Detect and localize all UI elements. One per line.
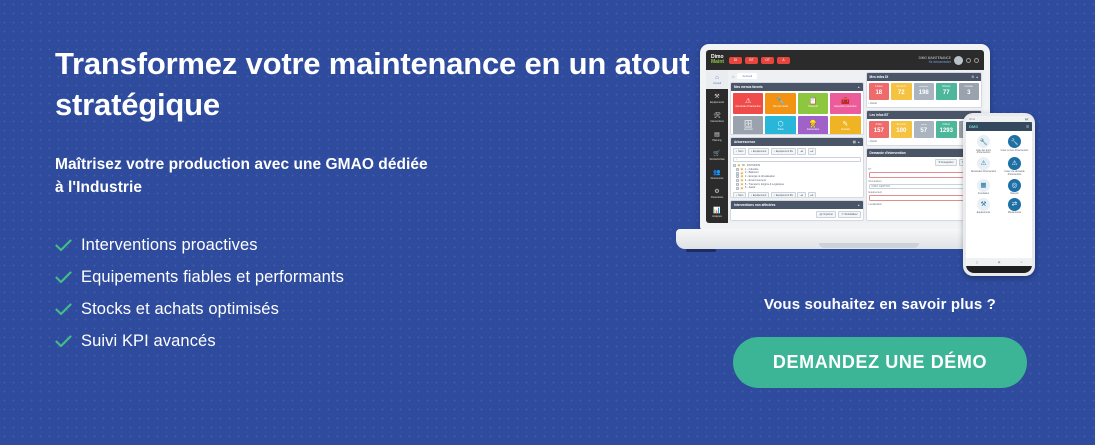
mini-btn-label: Nom: [738, 194, 743, 197]
phone-mockup: 09:41 ▮▮▯ DMS ☰ 🔧 Liste des bons d'inter…: [963, 113, 1035, 276]
cta-question: Vous souhaitez en savoir plus ?: [690, 296, 1070, 313]
panel-title: Demande d'intervention: [870, 151, 906, 155]
app-logo: Dimo Maint: [711, 55, 724, 66]
phone-tile-label: Créer une demande d'intervention: [1000, 171, 1029, 176]
badge-a[interactable]: A: [777, 57, 790, 64]
equipment-icon: ⚒: [714, 94, 719, 100]
sidebar-item-label: Accueil: [713, 82, 721, 85]
list-item-label: Interventions proactives: [81, 236, 258, 255]
list-item: Interventions proactives: [55, 230, 695, 262]
kpi-label: En cours: [897, 86, 906, 89]
app-logo-line-2: Maint: [711, 60, 724, 65]
check-icon: [55, 303, 81, 316]
badge-bt-label: BT: [749, 58, 753, 62]
tree-button-prev[interactable]: ◂1: [797, 148, 806, 155]
mini-btn-label: Imprimer: [823, 213, 833, 216]
clipboard-icon: 📋: [809, 98, 818, 105]
panel-title: Mes infos DI: [870, 75, 889, 79]
tile-intervention[interactable]: 👷 Intervention: [798, 116, 828, 135]
app-main: ⌂ Accueil Mes menus favoris ▴: [728, 70, 984, 223]
collapse-icon[interactable]: ▴: [858, 203, 860, 207]
pen-icon: ✎: [842, 121, 848, 128]
phone-tile-label: Equipements: [977, 212, 990, 215]
demandeur-value: DIMO GESTION: [872, 185, 890, 188]
check-icon: [55, 335, 81, 348]
kpi-label: Soldé: [921, 124, 927, 127]
phone-tile-label: Relevés: [1010, 193, 1018, 196]
sidebar-item-label: Ressources: [711, 177, 724, 180]
mini-btn-label: Equipement fils: [776, 150, 793, 153]
badge-bt[interactable]: BT: [745, 57, 758, 64]
wrench-icon: 🔧: [1008, 135, 1021, 148]
sidebar-item-stocks-achats[interactable]: 🛒 Stocks/Achats: [706, 147, 728, 166]
kpi-detail-link[interactable]: ▪ Détail: [869, 102, 979, 105]
page-title: Transformez votre maintenance en un atou…: [55, 44, 695, 126]
printer-icon: ▤: [819, 213, 822, 216]
avatar[interactable]: [954, 56, 963, 65]
help-icon[interactable]: [966, 58, 971, 63]
panel-body: ▤Imprimer ↻Réinitialiser: [731, 209, 863, 220]
list-item-label: Stocks et achats optimisés: [81, 300, 279, 319]
left-column: ⌂ Accueil Mes menus favoris ▴: [730, 72, 864, 221]
phone-chin: [966, 266, 1032, 273]
list-item-label: Suivi KPI avancés: [81, 332, 216, 351]
kpi-label: A traiter: [875, 86, 883, 89]
panel-title: Arborescence: [734, 140, 755, 144]
sidebar-item-label: Stocks/Achats: [709, 158, 724, 161]
app-header-right: DIMO MAINTENANCE Se déconnecter: [919, 56, 979, 65]
kpi-row: A traiter 18 En cours 72 Rea: [869, 83, 979, 100]
kpi-card[interactable]: Realisée 198: [914, 83, 935, 100]
tree-button-equipement[interactable]: •Equipement: [748, 148, 769, 155]
sidebar-item-label: Paramètres: [711, 196, 723, 199]
list-item: Equipements fiables et performants: [55, 262, 695, 294]
sidebar-item-label: Equipements: [710, 101, 724, 104]
phone-tile-label: Demandes d'intervention: [971, 171, 996, 174]
warning-icon: ⚠: [745, 98, 751, 105]
expand-icon[interactable]: +: [736, 179, 739, 182]
kpi-value: 18: [875, 90, 882, 97]
badge-di-label: DI: [734, 58, 737, 62]
mini-btn-label: Enregistrer: [941, 161, 953, 164]
kpi-card[interactable]: A traiter 18: [869, 83, 889, 100]
kpi-label: Clôturée: [942, 86, 951, 89]
nav-square-icon[interactable]: ◻: [976, 260, 979, 264]
people-icon: 👥: [713, 170, 720, 176]
home-icon: ⌂: [732, 74, 734, 79]
home-icon: ⌂: [715, 75, 719, 81]
favorite-tiles: ⚠ Demande d'intervention 🔧 Bon de travai…: [733, 93, 861, 135]
tile-contrats[interactable]: ✎ Contrats: [830, 116, 860, 135]
save-button[interactable]: ✚Enregistrer: [935, 159, 957, 166]
panel-header: Interventions non affectées ▴: [731, 201, 863, 209]
kpi-card[interactable]: En cours 72: [891, 83, 911, 100]
expand-icon[interactable]: +: [736, 175, 739, 178]
tree-panel: Arborescence ▦▴ •Nom •Equipement: [730, 137, 864, 198]
expand-icon[interactable]: −: [733, 164, 736, 167]
tile-stock[interactable]: ⬡ Stock: [765, 116, 795, 135]
tile-label: Demande d'intervention: [735, 106, 762, 109]
reset-button[interactable]: ↻Réinitialiser: [838, 211, 860, 218]
phone-tile-liste-bons[interactable]: 🔧 Liste des bons d'intervention: [969, 135, 998, 155]
refresh-icon: ↻: [841, 213, 844, 216]
kpi-card[interactable]: A faire 157: [869, 121, 889, 138]
check-icon: [55, 239, 81, 252]
mini-btn-label: Equipement: [753, 194, 766, 197]
dot-icon: •: [736, 150, 737, 153]
kpi-card[interactable]: Soldé 57: [914, 121, 935, 138]
folder-icon: ▣: [738, 164, 741, 167]
app-sidebar: ⌂ Accueil ⚒ Equipements 🛠 Interventions: [706, 70, 728, 223]
laptop-screen: Dimo Maint DI BT OT A DIMO MAINTENANCE S…: [706, 50, 984, 223]
grid-icon[interactable]: ▦: [853, 140, 856, 144]
kpi-value: 198: [919, 90, 929, 97]
tile-label: Bon de travail: [772, 106, 789, 109]
kpi-value: 1293: [940, 128, 953, 135]
expand-icon[interactable]: +: [736, 187, 739, 190]
sidebar-item-label: Interventions: [710, 120, 724, 123]
phone-tile-grid: 🔧 Liste des bons d'intervention 🔧 Créer …: [966, 131, 1032, 258]
tile-demande-intervention[interactable]: ⚠ Demande d'intervention: [733, 93, 763, 114]
tree-button-nom-bottom[interactable]: •Nom: [733, 192, 746, 198]
sidebar-item-planning[interactable]: ▤ Planning: [706, 127, 728, 146]
mini-btn-label: Equipement: [753, 150, 766, 153]
badge-di[interactable]: DI: [729, 57, 742, 64]
transfer-icon: ⇄: [1008, 198, 1021, 211]
cart-icon: 🛒: [713, 151, 720, 157]
phone-tile-equipements[interactable]: ⚒ Equipements: [969, 198, 998, 215]
badge-ot[interactable]: OT: [761, 57, 774, 64]
kpi-label: Clôturé: [943, 124, 950, 127]
laptop-mockup: Dimo Maint DI BT OT A DIMO MAINTENANCE S…: [700, 44, 990, 259]
mini-btn-label: Réinitialiser: [845, 213, 858, 216]
box-icon: ⬡: [778, 121, 784, 128]
sidebar-item-label: Planning: [712, 139, 721, 142]
sidebar-item-accueil[interactable]: ⌂ Accueil: [706, 70, 728, 89]
panel-title: Interventions non affectées: [734, 203, 775, 207]
phone-status-time: 09:41: [969, 118, 975, 121]
tile-inspection-preventive[interactable]: 🧰 Inspection préventive: [830, 93, 860, 114]
favorites-panel: Mes menus favoris ▴ ⚠ Demande d'interven…: [730, 82, 864, 135]
collapse-icon[interactable]: ▴: [858, 85, 860, 89]
wrench-icon: 🔧: [977, 135, 990, 148]
panel-tools: ▴: [858, 203, 860, 207]
mini-btn-label: Nom: [738, 150, 743, 153]
panel-header: Arborescence ▦▴: [731, 138, 863, 146]
phone-tile-demandes[interactable]: ⚠ Demandes d'intervention: [969, 157, 998, 177]
app-body: ⌂ Accueil ⚒ Equipements 🛠 Interventions: [706, 70, 984, 223]
dot-icon: •: [751, 194, 752, 197]
sidebar-item-analyses[interactable]: 📊 Analyses: [706, 204, 728, 223]
gear-icon: ⚙: [714, 189, 719, 195]
sidebar-item-ressources[interactable]: 👥 Ressources: [706, 166, 728, 185]
tile-label: Préventif: [807, 106, 818, 109]
unassigned-actions: ▤Imprimer ↻Réinitialiser: [733, 211, 861, 218]
subheadline-line-1: Maîtrisez votre production avec une GMAO…: [55, 154, 695, 177]
expand-icon[interactable]: +: [736, 183, 739, 186]
sidebar-item-equipements[interactable]: ⚒ Equipements: [706, 89, 728, 108]
print-button[interactable]: ▤Imprimer: [816, 211, 836, 218]
check-icon: [55, 271, 81, 284]
benefits-list: Interventions proactives Equipements fia…: [55, 230, 695, 358]
warning-icon: ⚠: [1008, 157, 1021, 170]
kpi-label: Annulée: [965, 86, 973, 89]
nav-back-icon[interactable]: ◅: [1020, 260, 1022, 264]
dot-icon: •: [774, 194, 775, 197]
tree-button-equipement-fils[interactable]: •Equipement fils: [771, 148, 796, 155]
collapse-icon[interactable]: ▴: [976, 75, 978, 79]
phone-tile-creer-demande[interactable]: ⚠ Créer une demande d'intervention: [1000, 157, 1029, 177]
badge-ot-label: OT: [765, 58, 770, 62]
gauge-icon: ◎: [1008, 179, 1021, 192]
tree-button-next-bottom[interactable]: ▸2: [808, 192, 817, 198]
sidebar-item-label: Analyses: [712, 215, 722, 218]
panel-tools: ▴: [858, 85, 860, 89]
phone-tile-releves[interactable]: ◎ Relevés: [1000, 179, 1029, 196]
kpi-detail-label: Détail: [870, 140, 877, 143]
warning-icon: ⚠: [977, 157, 990, 170]
kpi-value: 157: [874, 128, 884, 135]
tree-button-equipement-bottom[interactable]: •Equipement: [748, 192, 769, 198]
phone-status-icons: ▮▮▯: [1025, 118, 1029, 121]
panel-title: Mes menus favoris: [734, 85, 763, 89]
kpi-value: 57: [920, 128, 927, 135]
product-mockup: Dimo Maint DI BT OT A DIMO MAINTENANCE S…: [688, 44, 1040, 279]
kpi-card[interactable]: Clôturée 77: [936, 83, 956, 100]
laptop-trackpad-notch: [819, 243, 919, 248]
tree-toolbar-bottom: •Nom •Equipement •Equipement fils ◂1 ▸2: [733, 192, 861, 198]
tree-node[interactable]: + ▣ 6 - Santé: [733, 186, 861, 190]
tree-button-prev-bottom[interactable]: ◂1: [797, 192, 806, 198]
hero-copy: Transformez votre maintenance en un atou…: [55, 44, 695, 358]
kpi-value: 100: [896, 128, 906, 135]
list-item: Stocks et achats optimisés: [55, 294, 695, 326]
inventory-icon: ▦: [977, 179, 990, 192]
unassigned-panel: Interventions non affectées ▴ ▤Imprimer …: [730, 200, 864, 221]
panel-tools: ⚙▴: [971, 75, 978, 79]
cta-block: Vous souhaitez en savoir plus ? DEMANDEZ…: [690, 296, 1070, 388]
app-header: Dimo Maint DI BT OT A DIMO MAINTENANCE S…: [706, 50, 984, 70]
tree-toolbar-top: •Nom •Equipement •Equipement fils ◂1 ▸2: [733, 148, 861, 155]
phone-tile-label: Inventaires: [978, 193, 989, 196]
kpi-value: 77: [943, 90, 950, 97]
dot-icon: •: [736, 194, 737, 197]
equipment-icon: ⚒: [977, 198, 990, 211]
phone-tile-mouvements[interactable]: ⇄ Mouvements: [1000, 198, 1029, 215]
expand-icon[interactable]: +: [736, 168, 739, 171]
panel-body: •Nom •Equipement •Equipement fils ◂1 ▸2 …: [731, 146, 863, 197]
tree-button-next[interactable]: ▸2: [808, 148, 817, 155]
tile-general[interactable]: 🗄 Général: [733, 116, 763, 135]
panel-tools: ▦▴: [853, 140, 860, 144]
tab-accueil[interactable]: Accueil: [737, 73, 757, 79]
laptop-foot-left: [686, 249, 716, 252]
cabinet-icon: 🗄: [744, 121, 753, 128]
kpi-card[interactable]: En cours 100: [891, 121, 911, 138]
kpi-panel-di: Mes infos DI ⚙▴ A traiter: [866, 72, 982, 108]
kpi-value: 72: [898, 90, 905, 97]
tree-search-input[interactable]: ⌕: [733, 157, 861, 162]
menu-icon[interactable]: ☰: [1026, 125, 1029, 129]
kpi-value: 3: [967, 90, 970, 97]
panel-header: Mes menus favoris ▴: [731, 83, 863, 91]
sidebar-item-interventions[interactable]: 🛠 Interventions: [706, 108, 728, 127]
kpi-card[interactable]: Annulée 3: [959, 83, 980, 100]
collapse-icon[interactable]: ▴: [858, 140, 860, 144]
wrench-icon: 🔧: [776, 98, 785, 105]
folder-icon: ▣: [741, 187, 744, 190]
kpi-label: En cours: [897, 124, 906, 127]
dot-icon: •: [751, 150, 752, 153]
badge-a-label: A: [782, 58, 784, 62]
mini-btn-label: Equipement fils: [776, 194, 793, 197]
tile-label: Stock: [777, 129, 785, 132]
phone-tile-inventaires[interactable]: ▦ Inventaires: [969, 179, 998, 196]
phone-app-bar: DMS ☰: [966, 122, 1032, 131]
nav-home-icon[interactable]: ◉: [998, 260, 1001, 264]
expand-icon[interactable]: +: [736, 172, 739, 175]
tree-button-equipement-fils-bottom[interactable]: •Equipement fils: [771, 192, 796, 198]
laptop-lid: Dimo Maint DI BT OT A DIMO MAINTENANCE S…: [700, 44, 990, 230]
kpi-card[interactable]: Clôturé 1293: [936, 121, 956, 138]
subheadline-line-2: à l'Industrie: [55, 177, 695, 200]
calendar-icon: ▤: [714, 132, 720, 138]
settings-icon[interactable]: ⚙: [971, 75, 974, 79]
user-role-label[interactable]: Se déconnecter: [929, 60, 951, 64]
panel-body: ⚠ Demande d'intervention 🔧 Bon de travai…: [731, 91, 863, 134]
search-icon: ⌕: [736, 158, 737, 161]
tile-preventif[interactable]: 📋 Préventif: [798, 93, 828, 114]
wrench-icon: 🛠: [713, 113, 721, 119]
phone-nav-bar: ◻ ◉ ◅: [966, 258, 1032, 266]
panel-header: Mes infos DI ⚙▴: [867, 73, 981, 81]
phone-app-logo: DMS: [969, 124, 978, 129]
hero-subheadline: Maîtrisez votre production avec une GMAO…: [55, 154, 695, 200]
equipment-tree: − ▣ 00 - DIVISIONS + ▣ 1 - Industrie: [733, 164, 861, 190]
phone-tile-label: Créer un bon d'intervention: [1001, 150, 1029, 153]
phone-tile-label: Mouvements: [1008, 212, 1021, 215]
toolbox-icon: 🧰: [841, 98, 850, 105]
kpi-label: A faire: [876, 124, 883, 127]
chart-icon: 📊: [713, 208, 720, 214]
worker-icon: 👷: [809, 121, 818, 128]
panel-body: A traiter 18 En cours 72 Rea: [867, 81, 981, 107]
list-item-label: Equipements fiables et performants: [81, 268, 344, 287]
power-icon[interactable]: [974, 58, 979, 63]
panel-title: Les infos BT: [870, 113, 889, 117]
sidebar-item-parametres[interactable]: ⚙ Paramètres: [706, 185, 728, 204]
tab-bar: ⌂ Accueil: [730, 72, 864, 80]
user-info: DIMO MAINTENANCE Se déconnecter: [919, 56, 951, 64]
save-icon: ✚: [938, 161, 941, 164]
tile-label: Contrats: [840, 129, 851, 132]
tile-label: Général: [743, 129, 754, 132]
request-demo-button[interactable]: DEMANDEZ UNE DÉMO: [733, 337, 1027, 388]
phone-screen: 09:41 ▮▮▯ DMS ☰ 🔧 Liste des bons d'inter…: [966, 116, 1032, 273]
phone-tile-label: Liste des bons d'intervention: [969, 150, 998, 155]
list-item: Suivi KPI avancés: [55, 326, 695, 358]
tree-node-label: 6 - Santé: [745, 186, 756, 190]
dot-icon: •: [774, 150, 775, 153]
tree-button-nom[interactable]: •Nom: [733, 148, 746, 155]
tile-label: Intervention: [806, 129, 821, 132]
kpi-label: Realisée: [919, 86, 928, 89]
tile-bon-de-travail[interactable]: 🔧 Bon de travail: [765, 93, 795, 114]
phone-tile-creer-bon[interactable]: 🔧 Créer un bon d'intervention: [1000, 135, 1029, 155]
kpi-detail-label: Détail: [870, 102, 877, 105]
tile-label: Inspection préventive: [833, 106, 858, 109]
